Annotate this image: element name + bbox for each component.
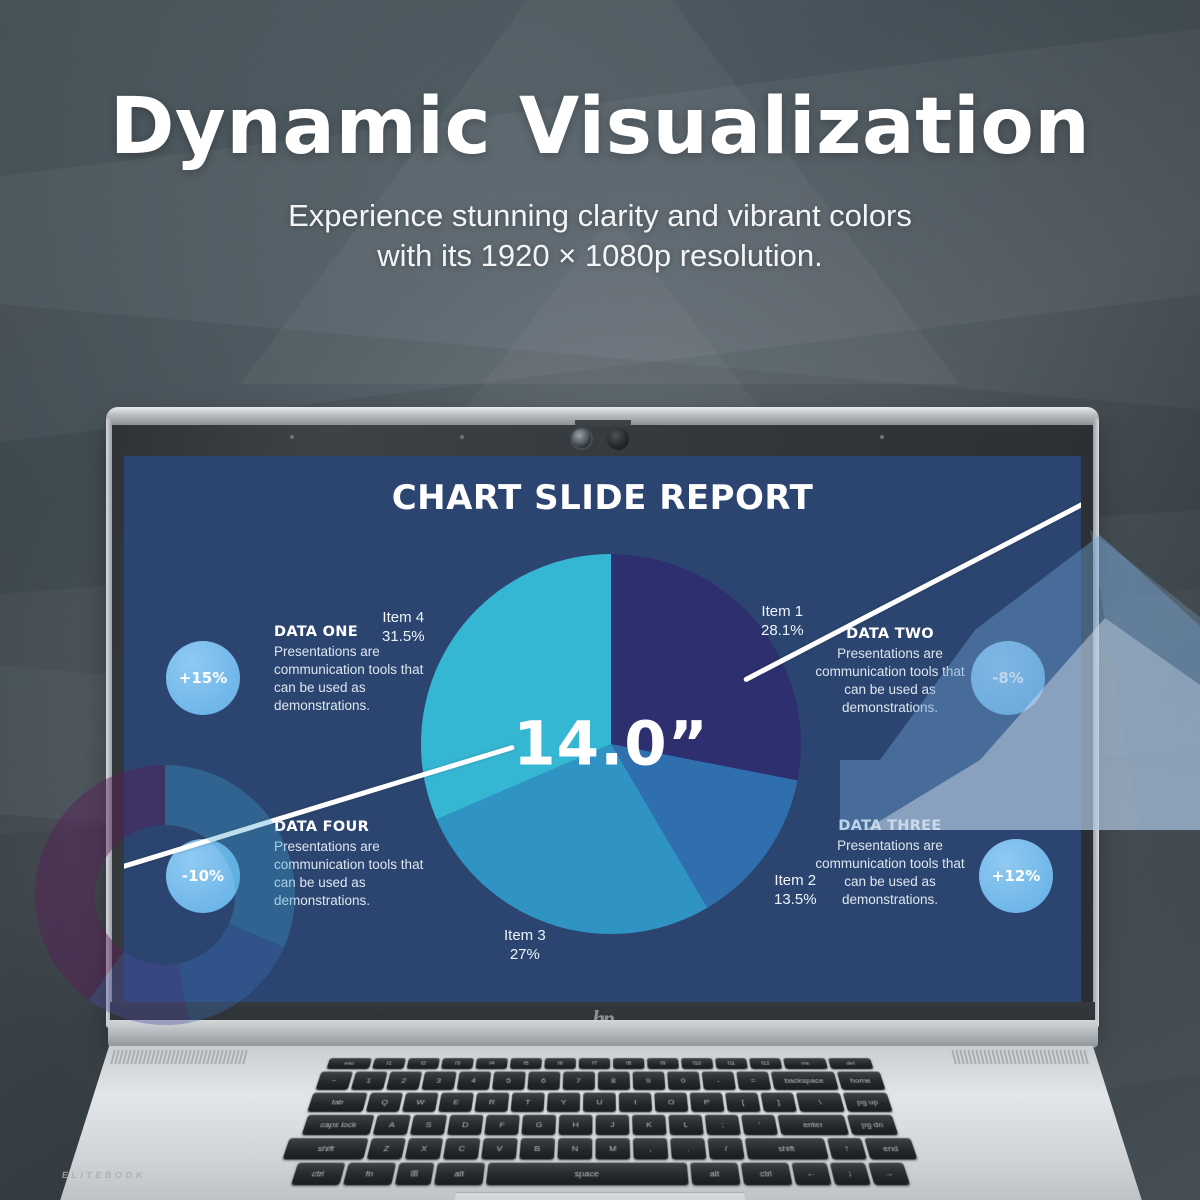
pie-slice-name: Item 2 xyxy=(774,871,817,890)
key-0[interactable]: 0 xyxy=(667,1071,701,1089)
key-enter[interactable]: enter xyxy=(777,1115,849,1135)
keyboard[interactable]: escf1f2f3f4f5f6f7f8f9f10f11f12insdel~123… xyxy=(20,1058,1180,1180)
key-m[interactable]: M xyxy=(596,1138,631,1159)
data-block-three: DATA THREE Presentations are communicati… xyxy=(814,818,966,909)
key-q[interactable]: Q xyxy=(366,1093,403,1112)
key-end[interactable]: end xyxy=(864,1138,917,1159)
area-chart-overlay xyxy=(840,430,1200,830)
keyboard-row: ctrlfn⊞altspacealtctrl←↓→ xyxy=(17,1163,1184,1186)
key-alt[interactable]: alt xyxy=(690,1163,741,1186)
key-f4[interactable]: f4 xyxy=(475,1058,508,1069)
key-[interactable]: ' xyxy=(741,1115,778,1135)
key-[interactable]: , xyxy=(633,1138,669,1159)
page-title: Dynamic Visualization xyxy=(0,88,1200,166)
touchpad[interactable] xyxy=(450,1192,750,1200)
key-[interactable]: ] xyxy=(760,1093,797,1112)
key-tab[interactable]: tab xyxy=(307,1093,368,1112)
key-alt[interactable]: alt xyxy=(433,1163,484,1186)
data-block-body: Presentations are communication tools th… xyxy=(814,837,966,909)
pie-chart[interactable]: 14.0” xyxy=(421,554,801,934)
keyboard-row: tabQWERTYUIOP[]\pg up xyxy=(61,1093,1139,1112)
key-y[interactable]: Y xyxy=(547,1093,580,1112)
key-r[interactable]: R xyxy=(474,1093,509,1112)
pie-slice-value: 13.5% xyxy=(774,890,817,909)
pie-slice-label-item-1: Item 1 28.1% xyxy=(761,602,804,640)
pie-center-value: 14.0” xyxy=(421,709,801,780)
key-x[interactable]: X xyxy=(405,1138,443,1159)
key-pg-dn[interactable]: pg dn xyxy=(847,1115,899,1135)
key-f2[interactable]: f2 xyxy=(406,1058,440,1069)
status-badge-three: +12% xyxy=(979,839,1053,913)
key-f11[interactable]: f11 xyxy=(715,1058,748,1069)
keyboard-row: escf1f2f3f4f5f6f7f8f9f10f11f12insdel xyxy=(87,1058,1112,1069)
key-u[interactable]: U xyxy=(583,1093,616,1112)
key-f10[interactable]: f10 xyxy=(681,1058,713,1069)
pie-slice-value: 28.1% xyxy=(761,621,804,640)
key-esc[interactable]: esc xyxy=(326,1058,372,1069)
data-block-body: Presentations are communication tools th… xyxy=(274,643,426,715)
key-[interactable]: [ xyxy=(725,1093,761,1112)
key-k[interactable]: K xyxy=(632,1115,667,1135)
key-j[interactable]: J xyxy=(596,1115,630,1135)
key-s[interactable]: S xyxy=(410,1115,447,1135)
key-[interactable]: . xyxy=(670,1138,706,1159)
key-a[interactable]: A xyxy=(373,1115,411,1135)
pie-slice-name: Item 1 xyxy=(761,602,804,621)
mic-dot-left-icon xyxy=(290,435,294,439)
key-8[interactable]: 8 xyxy=(597,1071,629,1089)
hero-subtitle-line-1: Experience stunning clarity and vibrant … xyxy=(0,196,1200,236)
data-block-heading: DATA ONE xyxy=(274,624,426,640)
hero-subtitle: Experience stunning clarity and vibrant … xyxy=(0,196,1200,275)
key-f1[interactable]: f1 xyxy=(372,1058,406,1069)
key-6[interactable]: 6 xyxy=(527,1071,560,1089)
data-block-one: DATA ONE Presentations are communication… xyxy=(274,624,426,715)
key-ctrl[interactable]: ctrl xyxy=(740,1163,792,1186)
key-1[interactable]: 1 xyxy=(350,1071,387,1089)
key-l[interactable]: L xyxy=(668,1115,703,1135)
keyboard-row: shiftZXCVBNM,./shift↑end xyxy=(32,1138,1168,1159)
key-shift[interactable]: shift xyxy=(745,1138,829,1159)
camera-icon xyxy=(570,427,593,450)
key-z[interactable]: Z xyxy=(367,1138,406,1159)
key-f5[interactable]: f5 xyxy=(510,1058,542,1069)
key-[interactable]: ⊞ xyxy=(394,1163,434,1186)
key-c[interactable]: C xyxy=(443,1138,481,1159)
key-caps-lock[interactable]: caps lock xyxy=(302,1115,375,1135)
key-[interactable]: ; xyxy=(705,1115,741,1135)
key-f3[interactable]: f3 xyxy=(441,1058,474,1069)
keyboard-row: ~1234567890-=backspacehome xyxy=(75,1071,1126,1089)
key-backspace[interactable]: backspace xyxy=(770,1071,838,1089)
key-[interactable]: ~ xyxy=(315,1071,353,1089)
key-7[interactable]: 7 xyxy=(562,1071,594,1089)
status-badge-one: +15% xyxy=(166,641,240,715)
key-[interactable]: / xyxy=(707,1138,744,1159)
key-p[interactable]: P xyxy=(690,1093,725,1112)
key-shift[interactable]: shift xyxy=(282,1138,368,1159)
key-space[interactable]: space xyxy=(485,1163,688,1186)
hero-subtitle-line-2: with its 1920 × 1080p resolution. xyxy=(0,236,1200,276)
key-del[interactable]: del xyxy=(828,1058,874,1069)
pie-slice-name: Item 3 xyxy=(504,926,546,945)
key-3[interactable]: 3 xyxy=(421,1071,456,1089)
key-f12[interactable]: f12 xyxy=(749,1058,782,1069)
key-f9[interactable]: f9 xyxy=(647,1058,679,1069)
key-pg-up[interactable]: pg up xyxy=(843,1093,893,1112)
key-o[interactable]: O xyxy=(654,1093,688,1112)
key-f7[interactable]: f7 xyxy=(579,1058,610,1069)
key-g[interactable]: G xyxy=(521,1115,556,1135)
key-2[interactable]: 2 xyxy=(386,1071,422,1089)
key-h[interactable]: H xyxy=(558,1115,592,1135)
camera-indicator-icon xyxy=(460,435,464,439)
key-home[interactable]: home xyxy=(836,1071,885,1089)
hero-header: Dynamic Visualization Experience stunnin… xyxy=(0,0,1200,275)
key-[interactable]: \ xyxy=(796,1093,845,1112)
key-[interactable]: ← xyxy=(791,1163,831,1186)
key-n[interactable]: N xyxy=(557,1138,592,1159)
key-w[interactable]: W xyxy=(402,1093,439,1112)
key-i[interactable]: I xyxy=(619,1093,652,1112)
key-v[interactable]: V xyxy=(481,1138,518,1159)
key-[interactable]: - xyxy=(701,1071,735,1089)
key-fn[interactable]: fn xyxy=(342,1163,395,1186)
key-ctrl[interactable]: ctrl xyxy=(290,1163,345,1186)
key-5[interactable]: 5 xyxy=(491,1071,525,1089)
ir-camera-icon xyxy=(607,428,629,450)
pie-slice-label-item-2: Item 2 13.5% xyxy=(774,871,817,909)
key-ins[interactable]: ins xyxy=(783,1058,828,1069)
key-d[interactable]: D xyxy=(447,1115,484,1135)
key-9[interactable]: 9 xyxy=(632,1071,665,1089)
webcam-notch xyxy=(575,420,631,427)
pie-slice-value: 27% xyxy=(504,945,546,964)
key-f[interactable]: F xyxy=(484,1115,520,1135)
laptop-base: escf1f2f3f4f5f6f7f8f9f10f11f12insdel~123… xyxy=(0,1020,1200,1200)
key-[interactable]: ↑ xyxy=(827,1138,867,1159)
donut-chart-overlay xyxy=(20,750,310,1040)
key-e[interactable]: E xyxy=(438,1093,474,1112)
key-t[interactable]: T xyxy=(511,1093,545,1112)
key-f6[interactable]: f6 xyxy=(544,1058,576,1069)
key-[interactable]: ↓ xyxy=(829,1163,870,1186)
pie-slice-label-item-3: Item 3 27% xyxy=(504,926,546,964)
key-f8[interactable]: f8 xyxy=(613,1058,645,1069)
key-b[interactable]: B xyxy=(519,1138,555,1159)
key-[interactable]: = xyxy=(736,1071,771,1089)
key-4[interactable]: 4 xyxy=(456,1071,491,1089)
key-[interactable]: → xyxy=(867,1163,909,1186)
keyboard-row: caps lockASDFGHJKL;'enterpg dn xyxy=(47,1115,1153,1135)
model-branding: ELITEBOOK xyxy=(61,1170,147,1180)
